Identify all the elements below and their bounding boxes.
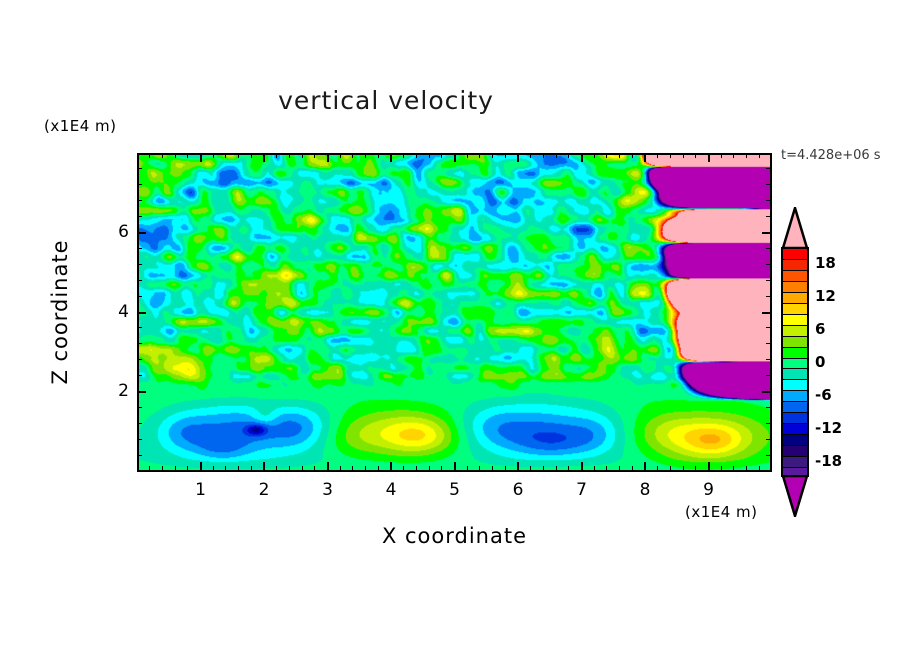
x-tick-major (200, 462, 202, 471)
x-tick-minor (556, 466, 557, 471)
y-tick-minor (766, 264, 771, 265)
x-tick-minor (441, 466, 442, 471)
colorbar-band (783, 249, 807, 260)
x-tick-minor (479, 153, 480, 158)
x-tick-minor (657, 466, 658, 471)
x-tick-minor (759, 466, 760, 471)
chart-title: vertical velocity (0, 86, 772, 115)
x-tick-major (708, 153, 710, 162)
y-tick-minor (766, 168, 771, 169)
x-tick-major (517, 153, 519, 162)
x-tick-minor (632, 466, 633, 471)
x-tick-minor (746, 466, 747, 471)
x-tick-minor (238, 153, 239, 158)
y-tick-minor (137, 280, 142, 281)
y-tick-minor (137, 407, 142, 408)
x-tick-minor (149, 153, 150, 158)
y-tick-major (137, 391, 146, 393)
x-axis-title: X coordinate (137, 524, 772, 548)
x-tick-minor (289, 153, 290, 158)
y-tick-minor (766, 296, 771, 297)
y-tick-minor (137, 216, 142, 217)
colorbar-tick-label: 6 (815, 320, 825, 338)
y-tick-major (137, 232, 146, 234)
velocity-field-image (139, 155, 770, 470)
y-tick-minor (766, 184, 771, 185)
x-tick-minor (568, 466, 569, 471)
x-tick-minor (302, 466, 303, 471)
y-tick-minor (137, 423, 142, 424)
colorbar-band (783, 271, 807, 282)
x-tick-minor (606, 153, 607, 158)
y-tick-minor (766, 455, 771, 456)
y-tick-minor (137, 184, 142, 185)
x-tick-minor (276, 466, 277, 471)
y-tick-major (762, 232, 771, 234)
colorbar-band (783, 402, 807, 413)
x-tick-minor (467, 466, 468, 471)
colorbar: 181260-6-12-18 (781, 207, 809, 517)
colorbar-band (783, 359, 807, 370)
x-tick-minor (302, 153, 303, 158)
x-tick-minor (695, 153, 696, 158)
colorbar-band (783, 424, 807, 435)
y-tick-major (137, 312, 146, 314)
x-tick-minor (594, 466, 595, 471)
x-tick-minor (543, 466, 544, 471)
colorbar-band (783, 457, 807, 468)
x-tick-label: 8 (625, 480, 665, 500)
x-tick-minor (429, 466, 430, 471)
y-tick-minor (137, 375, 142, 376)
colorbar-band (783, 380, 807, 391)
x-tick-major (390, 462, 392, 471)
x-tick-minor (162, 153, 163, 158)
x-tick-minor (340, 153, 341, 158)
x-tick-minor (378, 153, 379, 158)
x-tick-minor (505, 466, 506, 471)
x-tick-minor (746, 153, 747, 158)
y-tick-minor (766, 216, 771, 217)
x-tick-minor (429, 153, 430, 158)
x-axis-unit-label: (x1E4 m) (685, 503, 758, 521)
x-tick-minor (721, 153, 722, 158)
colorbar-tick-label: -18 (815, 452, 842, 470)
x-tick-minor (619, 153, 620, 158)
x-tick-minor (365, 153, 366, 158)
y-tick-minor (137, 296, 142, 297)
x-tick-minor (492, 466, 493, 471)
x-tick-major (200, 153, 202, 162)
x-tick-minor (670, 153, 671, 158)
x-tick-minor (606, 466, 607, 471)
colorbar-band (783, 293, 807, 304)
contour-plot-area (137, 153, 772, 472)
y-tick-minor (137, 200, 142, 201)
y-tick-minor (137, 248, 142, 249)
x-tick-minor (733, 466, 734, 471)
x-tick-minor (530, 466, 531, 471)
x-tick-minor (721, 466, 722, 471)
time-annotation: t=4.428e+06 s (781, 148, 881, 163)
x-tick-label: 6 (498, 480, 538, 500)
x-tick-minor (213, 153, 214, 158)
x-tick-minor (492, 153, 493, 158)
colorbar-over-arrow-icon (781, 207, 809, 249)
y-tick-minor (766, 439, 771, 440)
x-tick-minor (314, 466, 315, 471)
x-tick-minor (479, 466, 480, 471)
y-tick-minor (766, 248, 771, 249)
y-axis-title: Z coordinate (48, 212, 72, 412)
colorbar-band (783, 348, 807, 359)
x-tick-minor (314, 153, 315, 158)
x-tick-minor (657, 153, 658, 158)
figure-canvas: vertical velocity (x1E4 m) t=4.428e+06 s… (0, 0, 904, 654)
y-tick-minor (766, 343, 771, 344)
x-tick-minor (416, 466, 417, 471)
y-tick-label: 2 (89, 381, 129, 401)
x-tick-minor (403, 466, 404, 471)
y-tick-major (762, 312, 771, 314)
x-tick-minor (683, 153, 684, 158)
x-tick-minor (568, 153, 569, 158)
x-tick-major (644, 462, 646, 471)
x-tick-minor (162, 466, 163, 471)
x-tick-minor (378, 466, 379, 471)
y-tick-minor (137, 168, 142, 169)
colorbar-tick-label: 12 (815, 287, 836, 305)
y-tick-minor (766, 327, 771, 328)
y-tick-minor (137, 359, 142, 360)
x-tick-minor (733, 153, 734, 158)
x-tick-minor (670, 466, 671, 471)
y-tick-label: 6 (89, 222, 129, 242)
y-tick-minor (766, 200, 771, 201)
x-tick-minor (187, 153, 188, 158)
colorbar-tick-label: 18 (815, 254, 836, 272)
x-tick-minor (238, 466, 239, 471)
x-tick-minor (543, 153, 544, 158)
x-tick-minor (505, 153, 506, 158)
x-tick-minor (289, 466, 290, 471)
x-tick-label: 1 (181, 480, 221, 500)
x-tick-major (708, 462, 710, 471)
colorbar-band (783, 260, 807, 271)
colorbar-tick-label: -12 (815, 419, 842, 437)
colorbar-band (783, 326, 807, 337)
y-tick-minor (137, 439, 142, 440)
x-tick-major (454, 153, 456, 162)
x-tick-minor (594, 153, 595, 158)
x-tick-minor (352, 466, 353, 471)
x-tick-major (517, 462, 519, 471)
x-tick-minor (416, 153, 417, 158)
x-tick-major (454, 462, 456, 471)
x-tick-minor (340, 466, 341, 471)
x-tick-minor (759, 153, 760, 158)
x-tick-minor (441, 153, 442, 158)
y-tick-minor (766, 407, 771, 408)
y-tick-minor (137, 327, 142, 328)
colorbar-band (783, 435, 807, 446)
colorbar-bands (781, 247, 809, 477)
x-tick-minor (352, 153, 353, 158)
x-tick-minor (225, 153, 226, 158)
x-tick-major (263, 153, 265, 162)
x-tick-minor (695, 466, 696, 471)
y-tick-minor (766, 359, 771, 360)
colorbar-band (783, 315, 807, 326)
colorbar-band (783, 369, 807, 380)
x-tick-major (581, 153, 583, 162)
colorbar-band (783, 446, 807, 457)
x-tick-minor (225, 466, 226, 471)
colorbar-band (783, 413, 807, 424)
x-tick-label: 4 (371, 480, 411, 500)
x-tick-label: 3 (308, 480, 348, 500)
colorbar-tick-label: 0 (815, 353, 825, 371)
x-tick-major (644, 153, 646, 162)
x-tick-minor (683, 466, 684, 471)
x-tick-major (327, 153, 329, 162)
y-tick-minor (137, 455, 142, 456)
x-tick-label: 5 (435, 480, 475, 500)
y-axis-unit-label: (x1E4 m) (44, 117, 117, 135)
x-tick-minor (276, 153, 277, 158)
y-tick-minor (137, 264, 142, 265)
x-tick-major (390, 153, 392, 162)
colorbar-band (783, 282, 807, 293)
y-tick-major (762, 391, 771, 393)
y-tick-label: 4 (89, 302, 129, 322)
x-tick-label: 2 (244, 480, 284, 500)
y-tick-minor (766, 280, 771, 281)
x-tick-minor (175, 153, 176, 158)
x-tick-minor (365, 466, 366, 471)
x-tick-major (327, 462, 329, 471)
x-tick-minor (175, 466, 176, 471)
x-tick-minor (149, 466, 150, 471)
x-tick-major (581, 462, 583, 471)
x-tick-minor (187, 466, 188, 471)
colorbar-under-arrow-icon (781, 475, 809, 517)
x-tick-minor (251, 466, 252, 471)
x-tick-label: 9 (689, 480, 729, 500)
x-tick-minor (251, 153, 252, 158)
x-tick-minor (467, 153, 468, 158)
y-tick-minor (137, 343, 142, 344)
y-tick-minor (766, 423, 771, 424)
x-tick-label: 7 (562, 480, 602, 500)
colorbar-band (783, 304, 807, 315)
x-tick-minor (213, 466, 214, 471)
colorbar-band (783, 337, 807, 348)
colorbar-band (783, 391, 807, 402)
x-tick-minor (403, 153, 404, 158)
x-tick-major (263, 462, 265, 471)
y-tick-minor (766, 375, 771, 376)
x-tick-minor (619, 466, 620, 471)
x-tick-minor (632, 153, 633, 158)
colorbar-tick-label: -6 (815, 386, 832, 404)
x-tick-minor (556, 153, 557, 158)
x-tick-minor (530, 153, 531, 158)
